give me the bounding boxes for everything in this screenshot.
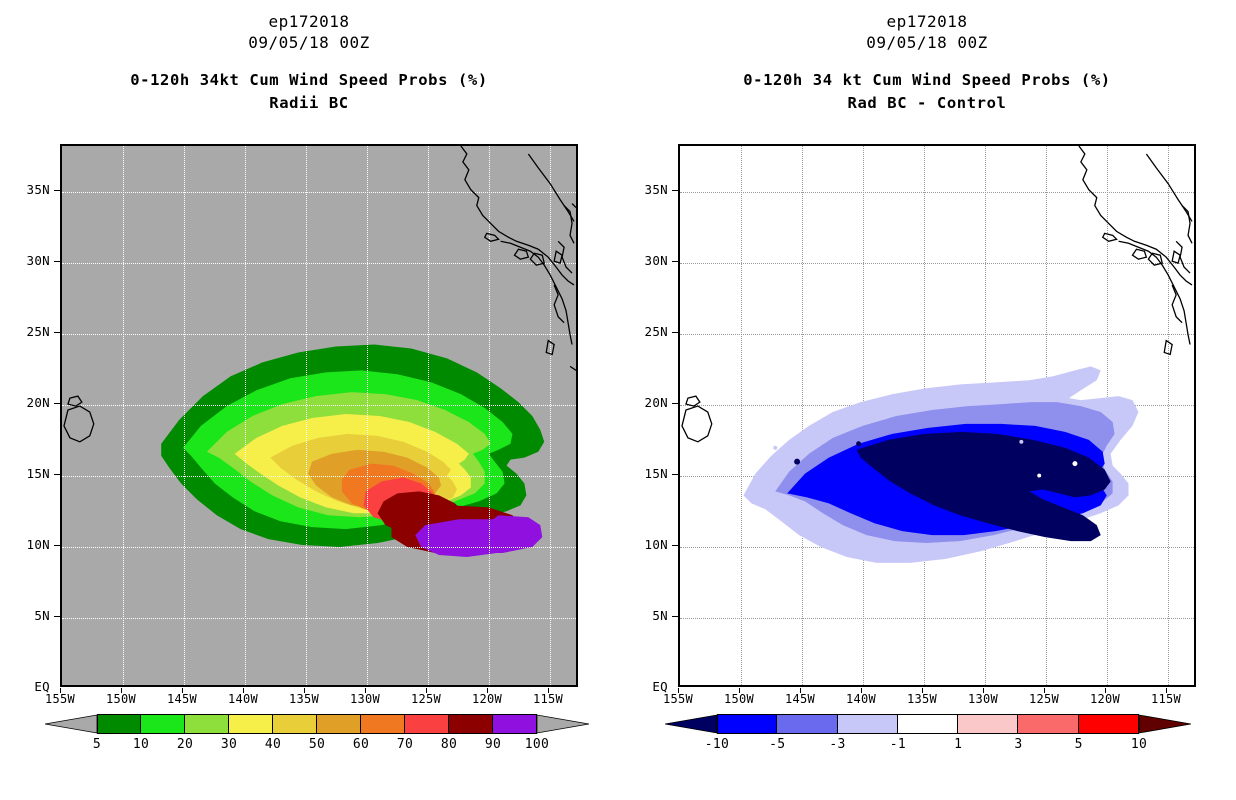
right-ytick-label-EQ: EQ <box>628 681 668 693</box>
figure-root: ep172018 09/05/18 00Z 0-120h 34kt Cum Wi… <box>0 0 1236 800</box>
colorbar-tick-50: 50 <box>293 738 341 751</box>
left-xtick-label-140W: 140W <box>219 693 267 705</box>
right-plot-subtitle: Rad BC - Control <box>618 92 1236 114</box>
colorbar-tick-40: 40 <box>249 738 297 751</box>
colorbar-tick--3: -3 <box>814 738 862 751</box>
colorbar-cell-5[interactable] <box>1018 714 1078 734</box>
colorbar-tick-3: 3 <box>994 738 1042 751</box>
colorbar-cell-0[interactable] <box>97 714 141 734</box>
right-datetime: 09/05/18 00Z <box>618 32 1236 53</box>
left-storm-id: ep172018 <box>0 12 618 32</box>
left-xtick-label-155W: 155W <box>36 693 84 705</box>
colorbar-tick-100: 100 <box>513 738 561 751</box>
left-colorbar-under-arrow <box>45 714 97 734</box>
left-ytick-label-5N: 5N <box>10 610 50 622</box>
colorbar-tick-20: 20 <box>161 738 209 751</box>
left-ytick-label-15N: 15N <box>10 468 50 480</box>
left-ytick-label-30N: 30N <box>10 255 50 267</box>
colorbar-tick--10: -10 <box>693 738 741 751</box>
right-ytick-label-30N: 30N <box>628 255 668 267</box>
right-ytick-label-10N: 10N <box>628 539 668 551</box>
colorbar-cell-4[interactable] <box>958 714 1018 734</box>
left-ytick-label-20N: 20N <box>10 397 50 409</box>
coastline-mexico-inland <box>1146 154 1192 221</box>
right-ytick-label-5N: 5N <box>628 610 668 622</box>
left-ytick-label-EQ: EQ <box>10 681 50 693</box>
colorbar-tick-60: 60 <box>337 738 385 751</box>
left-ytick-label-10N: 10N <box>10 539 50 551</box>
right-map-plot <box>678 144 1196 687</box>
left-ytick-label-35N: 35N <box>10 184 50 196</box>
colorbar-cell-6[interactable] <box>1079 714 1139 734</box>
right-xtick-label-130W: 130W <box>959 693 1007 705</box>
colorbar-cell-4[interactable] <box>273 714 317 734</box>
island-maui <box>686 396 700 406</box>
right-ytick-label-15N: 15N <box>628 468 668 480</box>
left-plot-title: 0-120h 34kt Cum Wind Speed Probs (%) <box>0 69 618 92</box>
left-plot-subtitle: Radii BC <box>0 92 618 114</box>
left-colorbar[interactable] <box>97 714 537 734</box>
colorbar-tick-90: 90 <box>469 738 517 751</box>
right-xtick-label-115W: 115W <box>1142 693 1190 705</box>
colorbar-tick-1: 1 <box>934 738 982 751</box>
right-xtick-label-150W: 150W <box>715 693 763 705</box>
right-xtick-label-135W: 135W <box>898 693 946 705</box>
colorbar-tick-70: 70 <box>381 738 429 751</box>
right-colorbar[interactable] <box>717 714 1139 734</box>
coastline-california <box>1079 146 1192 285</box>
island-hawaii <box>682 406 712 442</box>
colorbar-tick--5: -5 <box>753 738 801 751</box>
colorbar-cell-2[interactable] <box>185 714 229 734</box>
colorbar-tick-10: 10 <box>117 738 165 751</box>
right-ytick-label-25N: 25N <box>628 326 668 338</box>
right-xtick-label-155W: 155W <box>654 693 702 705</box>
panel-radii-bc: ep172018 09/05/18 00Z 0-120h 34kt Cum Wi… <box>0 0 618 800</box>
right-ytick-label-20N: 20N <box>628 397 668 409</box>
colorbar-cell-9[interactable] <box>493 714 537 734</box>
left-panel-titles: ep172018 09/05/18 00Z 0-120h 34kt Cum Wi… <box>0 12 618 114</box>
colorbar-cell-7[interactable] <box>405 714 449 734</box>
panel-rad-bc-minus-control: ep172018 09/05/18 00Z 0-120h 34 kt Cum W… <box>618 0 1236 800</box>
right-xtick-label-145W: 145W <box>776 693 824 705</box>
left-map-plot <box>60 144 578 687</box>
right-xtick-label-125W: 125W <box>1020 693 1068 705</box>
colorbar-cell-0[interactable] <box>717 714 777 734</box>
left-datetime: 09/05/18 00Z <box>0 32 618 53</box>
left-xtick-label-115W: 115W <box>524 693 572 705</box>
colorbar-cell-3[interactable] <box>898 714 958 734</box>
colorbar-cell-1[interactable] <box>777 714 837 734</box>
right-plot-title: 0-120h 34 kt Cum Wind Speed Probs (%) <box>618 69 1236 92</box>
colorbar-tick--1: -1 <box>874 738 922 751</box>
island-maui <box>68 396 82 406</box>
colorbar-cell-2[interactable] <box>838 714 898 734</box>
colorbar-tick-5: 5 <box>73 738 121 751</box>
colorbar-cell-3[interactable] <box>229 714 273 734</box>
colorbar-tick-10: 10 <box>1115 738 1163 751</box>
coastline-mexico-inland <box>528 154 574 221</box>
right-colorbar-under-arrow <box>665 714 717 734</box>
colorbar-tick-80: 80 <box>425 738 473 751</box>
right-xtick-label-140W: 140W <box>837 693 885 705</box>
right-ytick-label-35N: 35N <box>628 184 668 196</box>
left-colorbar-over-arrow <box>537 714 589 734</box>
left-xtick-label-150W: 150W <box>97 693 145 705</box>
left-xtick-label-125W: 125W <box>402 693 450 705</box>
island-hawaii <box>64 406 94 442</box>
left-xtick-label-130W: 130W <box>341 693 389 705</box>
right-colorbar-over-arrow <box>1139 714 1191 734</box>
colorbar-tick-30: 30 <box>205 738 253 751</box>
colorbar-cell-6[interactable] <box>361 714 405 734</box>
left-coastline-layer <box>62 146 576 685</box>
left-ytick-label-25N: 25N <box>10 326 50 338</box>
right-coastline-layer <box>680 146 1194 685</box>
colorbar-cell-8[interactable] <box>449 714 493 734</box>
left-xtick-label-135W: 135W <box>280 693 328 705</box>
colorbar-cell-5[interactable] <box>317 714 361 734</box>
left-xtick-label-145W: 145W <box>158 693 206 705</box>
right-panel-titles: ep172018 09/05/18 00Z 0-120h 34 kt Cum W… <box>618 12 1236 114</box>
left-xtick-label-120W: 120W <box>463 693 511 705</box>
colorbar-tick-5: 5 <box>1055 738 1103 751</box>
colorbar-cell-1[interactable] <box>141 714 185 734</box>
right-storm-id: ep172018 <box>618 12 1236 32</box>
coastline-california <box>461 146 574 285</box>
right-xtick-label-120W: 120W <box>1081 693 1129 705</box>
